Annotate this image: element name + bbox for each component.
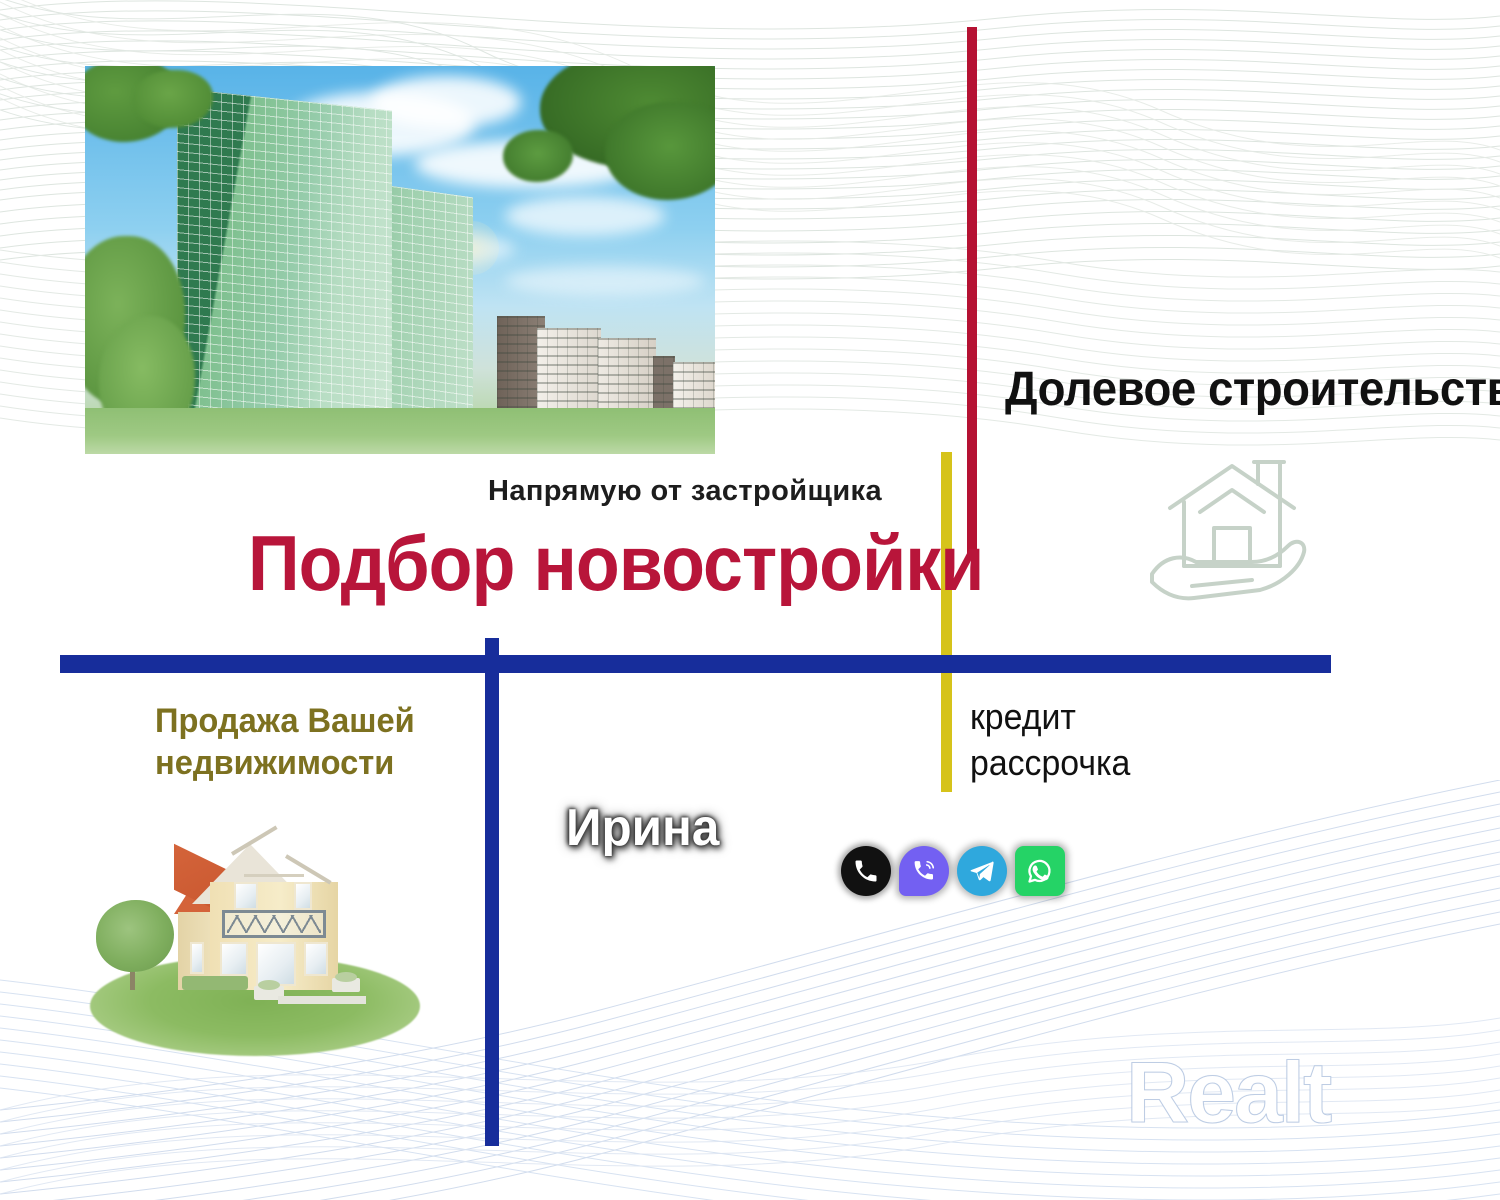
divider-red-vertical [967, 27, 977, 559]
whatsapp-icon[interactable] [1015, 846, 1065, 896]
subtitle-direct-from-developer: Напрямую от застройщика [488, 475, 882, 508]
divider-yellow-vertical [941, 452, 952, 792]
realt-watermark: Realt [1126, 1044, 1330, 1143]
heading-shared-construction: Долевое строительство [1005, 362, 1500, 417]
cottage-house-photo [82, 838, 427, 1063]
agent-name: Ирина [566, 798, 719, 858]
apartment-complex-photo [85, 66, 715, 454]
ground-strip [85, 408, 715, 454]
divider-blue-horizontal [60, 655, 1331, 673]
garden-tree [96, 900, 174, 972]
house-in-hand-icon [1148, 450, 1316, 610]
contact-icon-row [841, 846, 1065, 896]
balcony [222, 910, 326, 938]
divider-blue-vertical [485, 638, 499, 1146]
service-sell-property: Продажа Вашей недвижимости [155, 700, 415, 784]
page-title: Подбор новостройки [248, 524, 983, 602]
service-credit-installment: кредит рассрочка [970, 694, 1130, 786]
viber-icon[interactable] [899, 846, 949, 896]
telegram-icon[interactable] [957, 846, 1007, 896]
real-estate-poster: Напрямую от застройщика Подбор новострой… [0, 0, 1500, 1200]
phone-icon[interactable] [841, 846, 891, 896]
